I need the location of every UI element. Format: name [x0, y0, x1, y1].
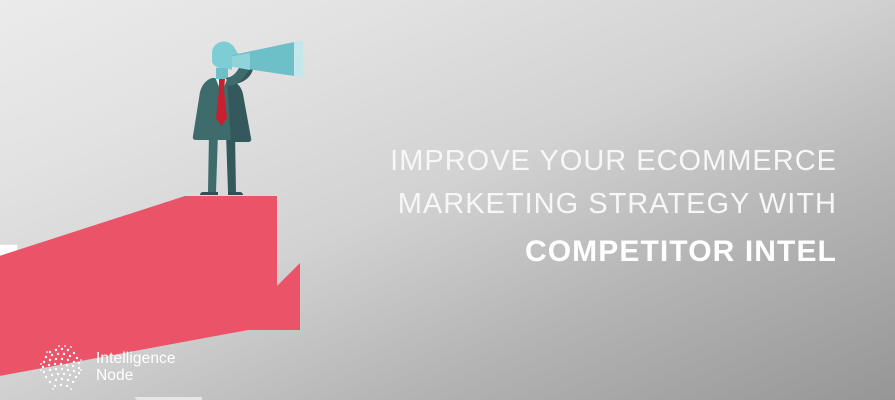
dotted-circle-icon	[45, 346, 87, 388]
logo-line-2: Node	[96, 367, 176, 385]
left-shoe	[200, 192, 218, 195]
logo-wordmark: Intelligence Node	[96, 350, 176, 385]
headline-line-1: IMPROVE YOUR ECOMMERCE	[367, 140, 837, 183]
telescope-lens-ring	[294, 41, 303, 77]
right-shoe	[228, 192, 243, 195]
intelligence-node-logo[interactable]: Intelligence Node	[45, 346, 176, 388]
headline-line-2: MARKETING STRATEGY WITH	[367, 183, 837, 226]
headline-block: IMPROVE YOUR ECOMMERCE MARKETING STRATEG…	[367, 140, 837, 273]
marketing-banner: Intelligence Node IMPROVE YOUR ECOMMERCE…	[0, 0, 895, 400]
headline-line-3: COMPETITOR INTEL	[367, 230, 837, 273]
neck	[216, 68, 228, 79]
logo-line-1: Intelligence	[96, 350, 176, 368]
